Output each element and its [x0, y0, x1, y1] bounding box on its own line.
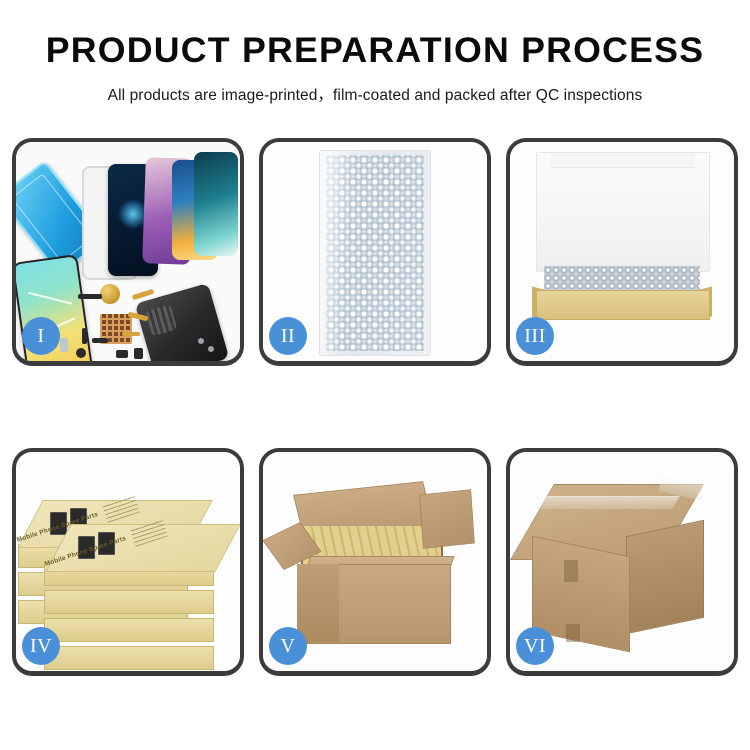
carton-seam-lower [566, 624, 580, 642]
speaker-component [100, 284, 120, 304]
part-screw-2 [208, 346, 214, 352]
packing-tape-strip [536, 496, 680, 509]
part-module [134, 348, 143, 359]
step-badge-2: II [269, 317, 307, 355]
part-camera [116, 350, 128, 358]
part-connector-3 [92, 338, 108, 343]
step-panel-4: Mobile Phone Spare Parts Mobile Phone Sp… [12, 448, 244, 676]
part-screw-1 [198, 338, 204, 344]
page-title: PRODUCT PREPARATION PROCESS [0, 32, 750, 71]
step-badge-6: VI [516, 627, 554, 665]
carton-seam-upper [564, 560, 578, 582]
stacked-box-edge [44, 646, 214, 670]
header: PRODUCT PREPARATION PROCESS All products… [0, 0, 750, 105]
part-sim-tray [60, 338, 68, 352]
step-panel-2: II [259, 138, 491, 366]
teal-phone [194, 152, 238, 256]
sealed-carton-side [626, 520, 704, 635]
step-badge-4: IV [22, 627, 60, 665]
step-panel-1: I [12, 138, 244, 366]
step-badge-5: V [269, 627, 307, 665]
page-subtitle: All products are image-printed，film-coat… [0, 83, 750, 105]
process-steps-grid: I II III [12, 138, 738, 676]
step-badge-1: I [22, 317, 60, 355]
part-connector-1 [78, 294, 102, 299]
part-button [76, 348, 86, 358]
bubble-wrap-pouch [319, 150, 431, 356]
part-connector-2 [82, 328, 87, 344]
bubble-wrapped-contents [544, 266, 700, 292]
step-panel-5: V [259, 448, 491, 676]
box-front-panel [536, 290, 710, 320]
stacked-box-edge [44, 590, 214, 614]
step-panel-3: III [506, 138, 738, 366]
stacked-box-edge [44, 618, 214, 642]
step-panel-6: VI [506, 448, 738, 676]
product-preparation-infographic: PRODUCT PREPARATION PROCESS All products… [0, 0, 750, 750]
step-badge-3: III [516, 317, 554, 355]
carton-flap-right [419, 489, 475, 549]
flex-cable-3 [122, 332, 140, 336]
carton-front-left-face [297, 564, 339, 642]
